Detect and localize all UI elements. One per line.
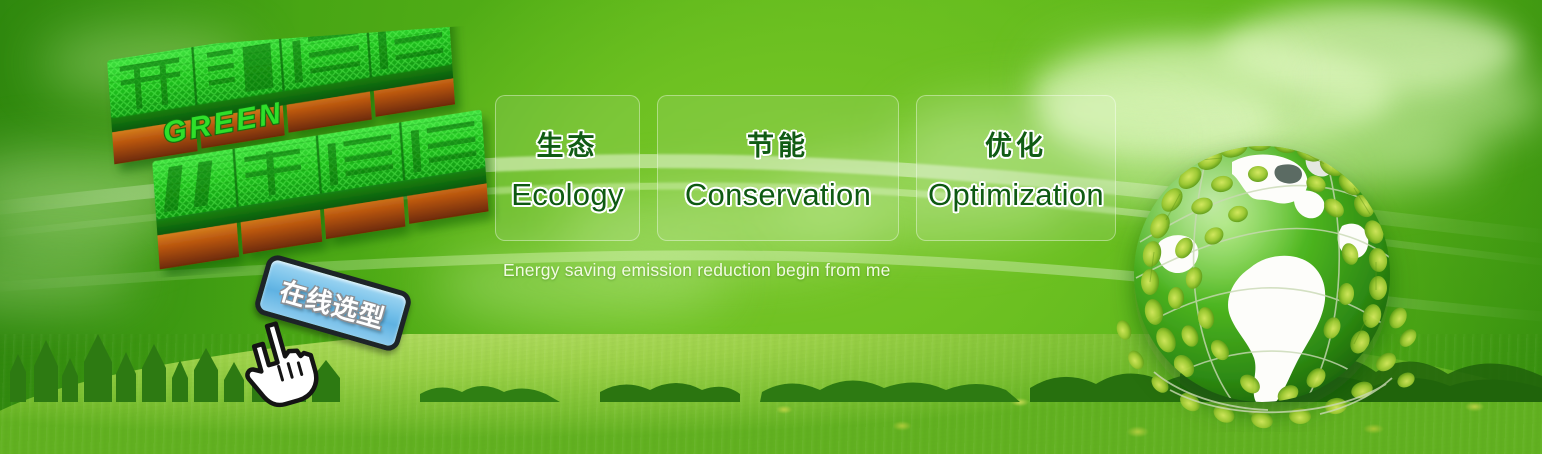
feature-card-conservation[interactable]: 节能 Conservation: [657, 95, 899, 241]
feature-card-list: 生态 Ecology 节能 Conservation 优化 Optimizati…: [495, 95, 1116, 241]
headline-3d-grass-text: GREEN: [88, 24, 503, 281]
feature-card-optimization[interactable]: 优化 Optimization: [916, 95, 1116, 241]
pointing-hand-cursor-icon: [240, 318, 320, 410]
eco-globe-illustration: [1110, 122, 1420, 432]
feature-card-title-cn: 节能: [747, 124, 809, 163]
feature-card-title-en: Optimization: [928, 177, 1104, 213]
banner-tagline: Energy saving emission reduction begin f…: [503, 260, 891, 281]
eco-promo-banner: GREEN: [0, 0, 1542, 454]
feature-card-title-cn: 生态: [537, 124, 599, 163]
feature-card-title-cn: 优化: [985, 124, 1047, 163]
feature-card-ecology[interactable]: 生态 Ecology: [495, 95, 640, 241]
feature-card-title-en: Conservation: [685, 177, 871, 213]
feature-card-title-en: Ecology: [511, 177, 623, 213]
